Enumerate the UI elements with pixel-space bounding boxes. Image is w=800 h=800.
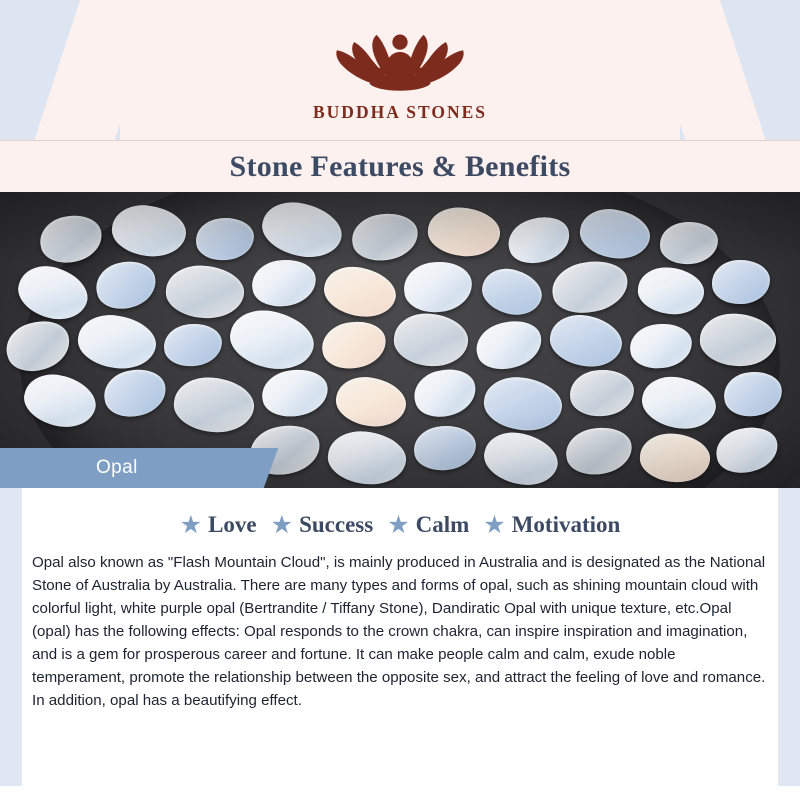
- lotus-meditation-figure-icon: [310, 22, 490, 100]
- body-edge-right: [778, 488, 800, 800]
- benefit-label: Calm: [416, 512, 470, 538]
- benefit-item-calm: ★ Calm: [387, 512, 469, 538]
- footer-strip: [0, 786, 800, 800]
- benefit-label: Motivation: [512, 512, 621, 538]
- star-icon: ★: [271, 513, 293, 538]
- benefit-label: Love: [208, 512, 257, 538]
- photo-vignette: [0, 192, 800, 488]
- benefit-item-motivation: ★ Motivation: [483, 512, 620, 538]
- stone-photo: Opal: [0, 192, 800, 488]
- brand-name: BUDDHA STONES: [313, 102, 487, 123]
- benefit-item-love: ★ Love: [180, 512, 257, 538]
- stone-name: Opal: [96, 457, 138, 479]
- section-title-band: Stone Features & Benefits: [0, 140, 800, 192]
- star-icon: ★: [180, 513, 202, 538]
- benefit-list: ★ Love ★ Success ★ Calm ★ Motivation: [0, 488, 800, 538]
- star-icon: ★: [387, 513, 409, 538]
- benefit-item-success: ★ Success: [271, 512, 374, 538]
- body-edge-left: [0, 488, 22, 800]
- page-title: Stone Features & Benefits: [229, 150, 570, 184]
- stone-name-ribbon: Opal: [0, 448, 252, 488]
- page-header: BUDDHA STONES: [0, 0, 800, 140]
- description-paragraph: Opal also known as "Flash Mountain Cloud…: [32, 552, 768, 713]
- brand-logo: BUDDHA STONES: [0, 22, 800, 123]
- benefit-label: Success: [299, 512, 373, 538]
- star-icon: ★: [483, 513, 505, 538]
- content-body: ★ Love ★ Success ★ Calm ★ Motivation Opa…: [0, 488, 800, 800]
